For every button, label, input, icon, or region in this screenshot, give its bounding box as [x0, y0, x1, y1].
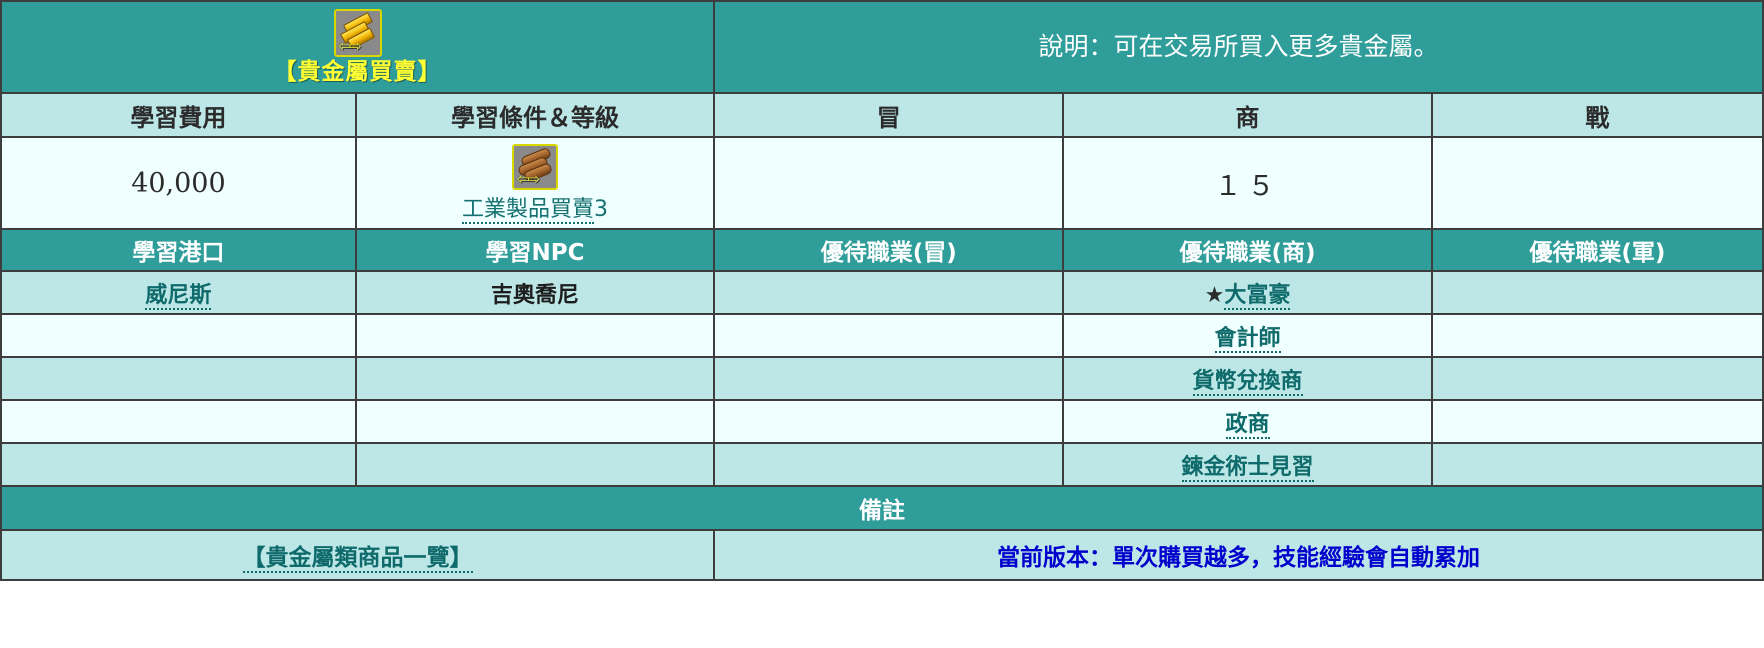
port-cell	[1, 314, 356, 357]
skill-description: 說明：可在交易所買入更多貴金屬。	[714, 1, 1763, 93]
header-npc: 學習NPC	[356, 229, 714, 271]
table-row: 鍊金術士見習	[1, 443, 1763, 486]
fav-military-cell	[1432, 357, 1763, 400]
fav-merchant-link[interactable]: 政商	[1226, 412, 1270, 439]
adventurer-value	[714, 137, 1063, 229]
fav-merchant-link[interactable]: 大富豪	[1224, 283, 1290, 310]
skill-title-row: ⇦⇨ 【貴金屬買賣】 說明：可在交易所買入更多貴金屬。	[1, 1, 1763, 93]
gold-bars-trade-icon: ⇦⇨	[334, 9, 382, 57]
npc-cell: 吉奧喬尼	[356, 271, 714, 314]
table-row: 貨幣兌換商	[1, 357, 1763, 400]
header-row-cost-condition: 學習費用 學習條件＆等級 冒 商 戰	[1, 93, 1763, 137]
npc-cell	[356, 314, 714, 357]
fav-adventurer-cell	[714, 271, 1063, 314]
fav-merchant-link[interactable]: 貨幣兌換商	[1193, 369, 1303, 396]
fav-military-cell	[1432, 400, 1763, 443]
port-link[interactable]: 威尼斯	[145, 283, 211, 310]
header-cost: 學習費用	[1, 93, 356, 137]
npc-cell	[356, 357, 714, 400]
goods-list-link[interactable]: 【貴金屬類商品一覽】	[243, 545, 473, 573]
fav-adventurer-cell	[714, 357, 1063, 400]
header-fav-merchant: 優待職業(商)	[1063, 229, 1431, 271]
port-cell	[1, 400, 356, 443]
table-row: 政商	[1, 400, 1763, 443]
port-cell: 威尼斯	[1, 271, 356, 314]
maritime-value	[1432, 137, 1763, 229]
condition-skill-link[interactable]: 工業製品買賣	[462, 197, 594, 224]
merchant-value-cell: １５	[1063, 137, 1431, 229]
condition-value-cell: ⇦⇨ 工業製品買賣3	[356, 137, 714, 229]
header-fav-adventurer: 優待職業(冒)	[714, 229, 1063, 271]
note-left-cell: 【貴金屬類商品一覽】	[1, 530, 714, 580]
npc-cell	[356, 400, 714, 443]
note-content-row: 【貴金屬類商品一覽】 當前版本：單次購買越多，技能經驗會自動累加	[1, 530, 1763, 580]
lumber-trade-icon: ⇦⇨	[512, 144, 558, 190]
header-port: 學習港口	[1, 229, 356, 271]
values-row: 40,000 ⇦⇨ 工業製品買賣3 １５	[1, 137, 1763, 229]
fav-merchant-cell: 鍊金術士見習	[1063, 443, 1431, 486]
fav-military-cell	[1432, 314, 1763, 357]
cost-value-cell: 40,000	[1, 137, 356, 229]
fav-military-cell	[1432, 271, 1763, 314]
header-fav-military: 優待職業(軍)	[1432, 229, 1763, 271]
skill-title-text: 【貴金屬買賣】	[2, 59, 713, 85]
npc-name: 吉奧喬尼	[491, 283, 579, 308]
table-row: 威尼斯 吉奧喬尼 ★大富豪	[1, 271, 1763, 314]
fav-merchant-cell: 會計師	[1063, 314, 1431, 357]
header-adventurer: 冒	[714, 93, 1063, 137]
note-header: 備註	[1, 486, 1763, 530]
header-maritime: 戰	[1432, 93, 1763, 137]
condition-skill-label: 工業製品買賣3	[462, 191, 608, 223]
fav-adventurer-cell	[714, 443, 1063, 486]
npc-cell	[356, 443, 714, 486]
note-right-text: 當前版本：單次購買越多，技能經驗會自動累加	[714, 530, 1763, 580]
fav-adventurer-cell	[714, 400, 1063, 443]
fav-adventurer-cell	[714, 314, 1063, 357]
port-cell	[1, 357, 356, 400]
header-row-port-jobs: 學習港口 學習NPC 優待職業(冒) 優待職業(商) 優待職業(軍)	[1, 229, 1763, 271]
fav-merchant-cell: ★大富豪	[1063, 271, 1431, 314]
fav-merchant-cell: 政商	[1063, 400, 1431, 443]
fav-merchant-cell: 貨幣兌換商	[1063, 357, 1431, 400]
fav-merchant-link[interactable]: 鍊金術士見習	[1182, 455, 1314, 482]
skill-title-cell: ⇦⇨ 【貴金屬買賣】	[1, 1, 714, 93]
cost-value: 40,000	[131, 168, 225, 199]
condition-skill-level: 3	[594, 197, 608, 222]
header-merchant: 商	[1063, 93, 1431, 137]
merchant-value: １５	[1215, 171, 1281, 202]
skill-info-table: ⇦⇨ 【貴金屬買賣】 說明：可在交易所買入更多貴金屬。 學習費用 學習條件＆等級…	[0, 0, 1764, 581]
fav-military-cell	[1432, 443, 1763, 486]
header-condition: 學習條件＆等級	[356, 93, 714, 137]
star-icon: ★	[1205, 283, 1225, 308]
port-cell	[1, 443, 356, 486]
note-header-row: 備註	[1, 486, 1763, 530]
fav-merchant-link[interactable]: 會計師	[1215, 326, 1281, 353]
table-row: 會計師	[1, 314, 1763, 357]
